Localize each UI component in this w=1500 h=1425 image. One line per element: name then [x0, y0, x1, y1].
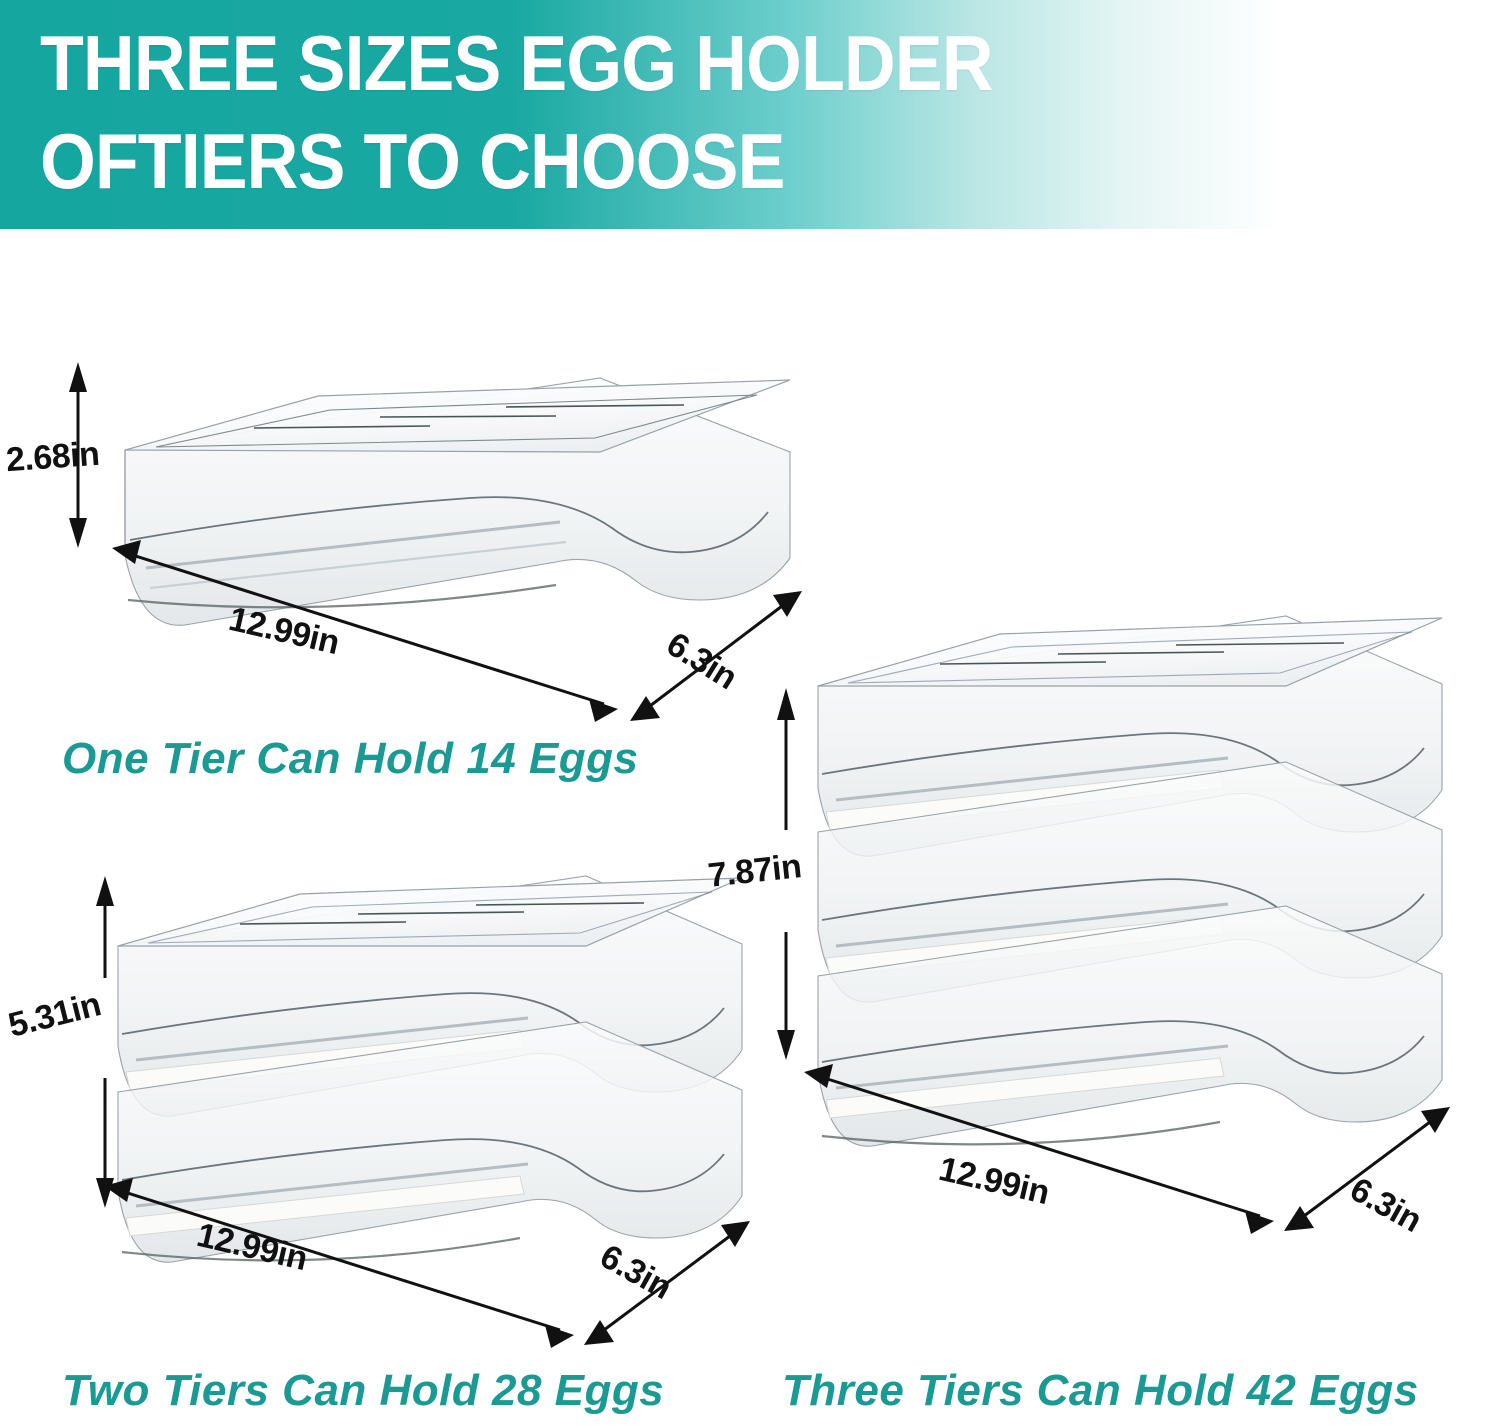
caption-three-tier: Three Tiers Can Hold 42 Eggs — [782, 1366, 1419, 1416]
product-infographic: THREE SIZES EGG HOLDER OFTIERS TO CHOOSE — [0, 0, 1500, 1425]
caption-one-tier: One Tier Can Hold 14 Eggs — [62, 734, 639, 784]
product-image-two-tier — [0, 860, 800, 1360]
container-tier — [125, 378, 790, 625]
lid-divider-line — [380, 416, 556, 417]
product-image-three-tier — [700, 580, 1500, 1360]
dimension-height-one-tier: 2.68in — [5, 435, 101, 480]
caption-two-tier: Two Tiers Can Hold 28 Eggs — [62, 1366, 664, 1416]
page-title: THREE SIZES EGG HOLDER OFTIERS TO CHOOSE — [40, 14, 1126, 210]
header-banner: THREE SIZES EGG HOLDER OFTIERS TO CHOOSE — [0, 0, 1278, 229]
